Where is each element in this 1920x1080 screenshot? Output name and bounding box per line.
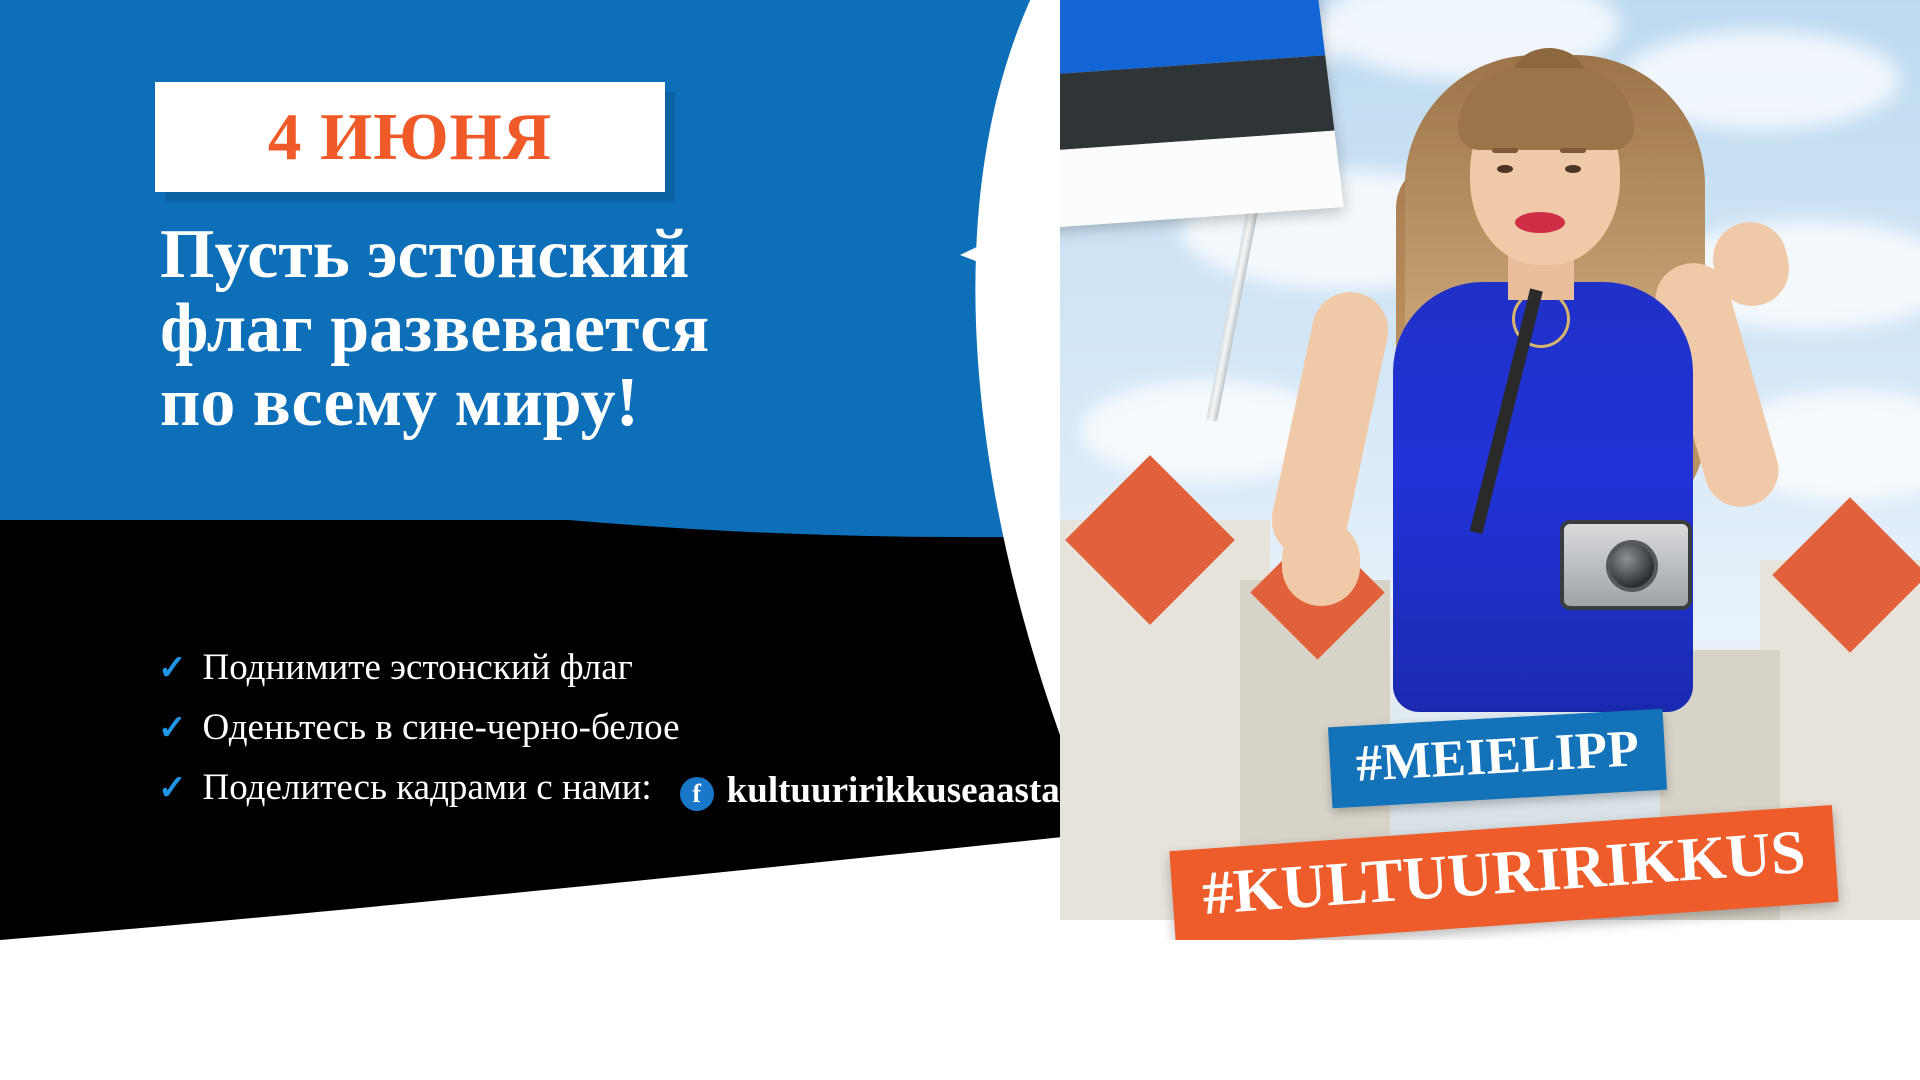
left-hand-holding-pole xyxy=(1282,520,1360,606)
check-icon: ✓ xyxy=(158,641,187,696)
checklist-item: ✓ Поделитесь кадрами с нами: f kultuurir… xyxy=(158,758,1178,821)
headline-line-1: Пусть эстонский xyxy=(160,218,980,292)
check-icon: ✓ xyxy=(158,761,187,816)
checklist-item-label: Поделитесь кадрами с нами: xyxy=(203,758,652,818)
date-badge: 4 ИЮНЯ xyxy=(155,82,665,192)
poster-canvas: 4 ИЮНЯ Пусть эстонский флаг развевается … xyxy=(0,0,1920,1080)
checklist-item-label: Оденьтесь в сине-черно-белое xyxy=(203,698,680,758)
headline-line-3: по всему миру! xyxy=(160,366,980,440)
check-icon: ✓ xyxy=(158,701,187,756)
lips xyxy=(1515,212,1565,233)
estonian-flag-icon xyxy=(1060,0,1344,231)
checklist: ✓ Поднимите эстонский флаг ✓ Оденьтесь в… xyxy=(158,638,1178,821)
camera-icon xyxy=(1560,520,1692,610)
checklist-item: ✓ Оденьтесь в сине-черно-белое xyxy=(158,698,1178,758)
facebook-handle[interactable]: kultuuririkkuseaasta xyxy=(727,761,1060,821)
footer: kultuuririkkus.ee xyxy=(0,940,1920,1080)
checklist-item-label: Поднимите эстонский флаг xyxy=(203,638,633,698)
headline-line-2: флаг развевается xyxy=(160,292,980,366)
checklist-item: ✓ Поднимите эстонский флаг xyxy=(158,638,1178,698)
facebook-icon[interactable]: f xyxy=(680,777,714,811)
headline: Пусть эстонский флаг развевается по всем… xyxy=(160,218,980,441)
facebook-link[interactable]: f kultuuririkkuseaasta xyxy=(680,761,1060,821)
date-badge-label: 4 ИЮНЯ xyxy=(268,99,552,176)
hair-front xyxy=(1458,68,1634,150)
